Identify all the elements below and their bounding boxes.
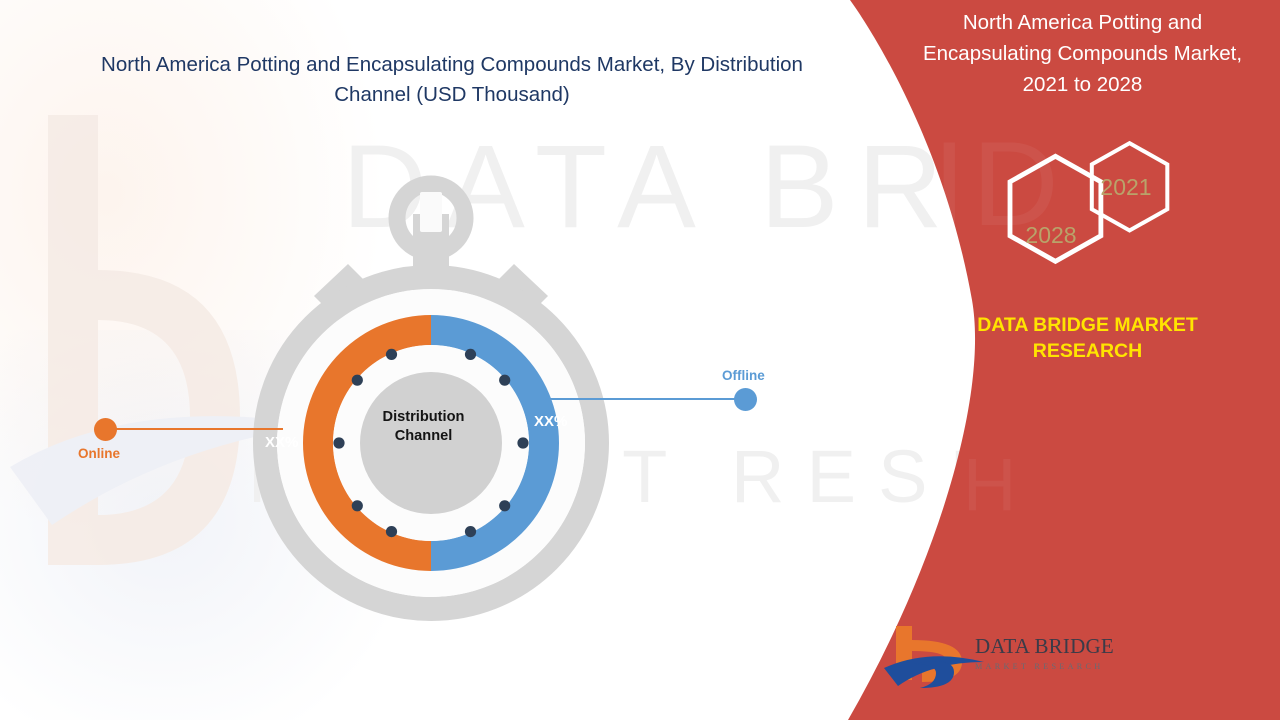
- panel-title: North America Potting and Encapsulating …: [905, 8, 1260, 100]
- donut-center-label: Distribution Channel: [357, 408, 490, 447]
- callout-leader-online: [108, 428, 283, 430]
- callout-leader-offline: [550, 398, 740, 400]
- svg-text:RCH: RCH: [820, 443, 1034, 526]
- callout-label-offline: Offline: [722, 368, 765, 383]
- hexagon-year-badges: 2028 2021: [985, 138, 1185, 266]
- callout-label-online: Online: [78, 446, 120, 461]
- infographic-canvas: DATA BRIDGE MARKET RESEARCH North Americ…: [0, 0, 1280, 720]
- donut-chart-stopwatch: [236, 168, 626, 633]
- chart-title: North America Potting and Encapsulating …: [72, 50, 832, 109]
- value-label-online: XX%: [265, 434, 298, 451]
- hexagon-2028-label: 2028: [1025, 222, 1076, 248]
- callout-dot-online: [94, 418, 117, 441]
- brand-name-text: DATA BRIDGE MARKET RESEARCH: [945, 312, 1230, 365]
- logo-tagline: MARKET RESEARCH: [975, 662, 1125, 671]
- logo-wordmark: DATA BRIDGE: [975, 634, 1115, 659]
- callout-dot-offline: [734, 388, 757, 411]
- hexagon-2021-label: 2021: [1100, 174, 1151, 200]
- value-label-offline: XX%: [534, 413, 567, 430]
